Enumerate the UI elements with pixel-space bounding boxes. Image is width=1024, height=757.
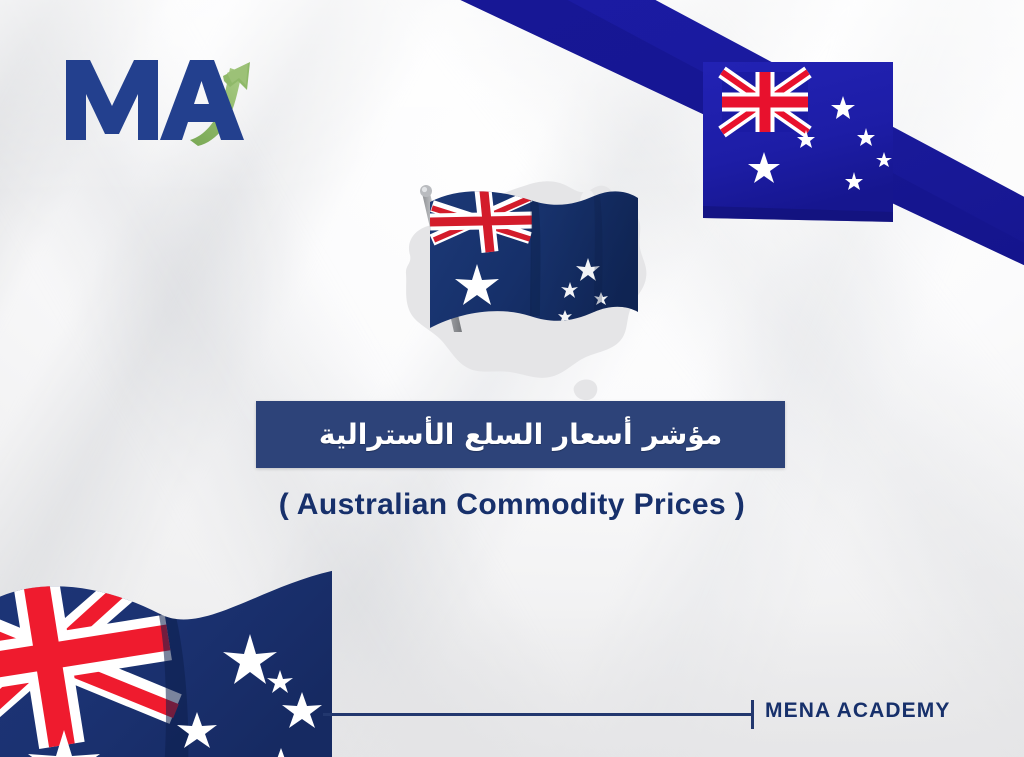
title-banner: مؤشر أسعار السلع الأسترالية bbox=[256, 401, 785, 468]
title-english: ( Australian Commodity Prices ) bbox=[0, 488, 1024, 522]
brand-logo[interactable] bbox=[64, 48, 269, 148]
title-arabic: مؤشر أسعار السلع الأسترالية bbox=[319, 418, 722, 451]
centre-artwork bbox=[380, 160, 680, 410]
australian-flag-large bbox=[0, 540, 332, 757]
australian-flag-panel bbox=[703, 62, 893, 222]
footer-brand-name: MENA ACADEMY bbox=[765, 699, 950, 723]
poster-canvas: مؤشر أسعار السلع الأسترالية ( Australian… bbox=[0, 0, 1024, 757]
footer-divider bbox=[323, 713, 753, 716]
logo-text bbox=[66, 60, 244, 140]
